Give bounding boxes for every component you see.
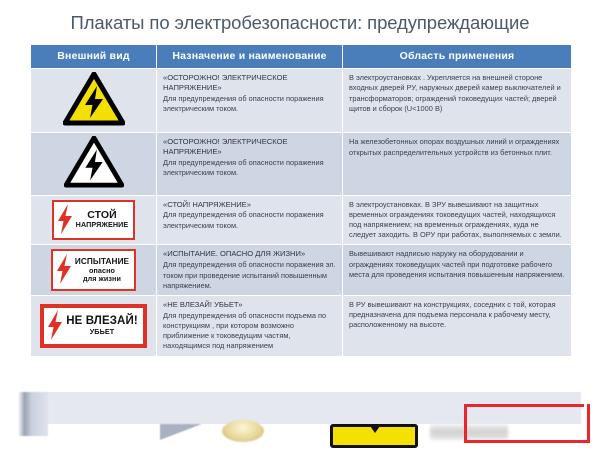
sign-cell: СТОЙ НАПРЯЖЕНИЕ	[31, 196, 156, 245]
table-header-row: Внешний вид Назначение и наименование Об…	[31, 45, 571, 68]
purpose-cell: «СТОЙ! НАПРЯЖЕНИЕ» Для предупреждения об…	[157, 196, 342, 245]
table-row: СТОЙ НАПРЯЖЕНИЕ «СТОЙ! НАПРЯЖЕНИЕ» Для п…	[31, 196, 571, 245]
background-red-outline	[464, 404, 590, 443]
background-triangle-shape	[160, 424, 202, 440]
background-red-outline-top	[464, 404, 584, 407]
table-row: НЕ ВЛЕЗАЙ! УБЬЕТ «НЕ ВЛЕЗАЙ! УБЬЕТ» Для …	[31, 296, 571, 356]
application-cell: Вывешивают надписью наружу на оборудован…	[343, 245, 571, 295]
sign-purpose: Для предупреждения об опасности поражени…	[163, 94, 337, 114]
test-danger-sign: ИСПЫТАНИЕ опасно для жизни	[51, 249, 136, 290]
page-title: Плакаты по электробезопасности: предупре…	[0, 12, 600, 34]
sign-purpose: Для предупреждения об опасности поражени…	[163, 158, 337, 178]
background-grey-shape	[430, 424, 508, 440]
column-header-application: Область применения	[343, 45, 571, 68]
sign-cell: ИСПЫТАНИЕ опасно для жизни	[31, 245, 156, 295]
safety-posters-table: Внешний вид Назначение и наименование Об…	[30, 44, 572, 357]
background-yellow-sign	[330, 424, 418, 448]
warning-triangle-white-icon	[64, 136, 124, 188]
sign-line-3: для жизни	[83, 274, 121, 283]
table-row: ИСПЫТАНИЕ опасно для жизни «ИСПЫТАНИЕ. О…	[31, 245, 571, 295]
warning-triangle-yellow-icon	[63, 72, 125, 126]
sign-cell: НЕ ВЛЕЗАЙ! УБЬЕТ	[31, 296, 156, 356]
sign-line-2: НАПРЯЖЕНИЕ	[76, 220, 129, 229]
sign-purpose: Для предупреждения об опасности подъема …	[163, 311, 337, 352]
sign-name: «СТОЙ! НАПРЯЖЕНИЕ»	[163, 200, 337, 210]
table-row: «ОСТОРОЖНО! ЭЛЕКТРИЧЕСКОЕ НАПРЯЖЕНИЕ» Дл…	[31, 133, 571, 194]
slide-canvas: Плакаты по электробезопасности: предупре…	[0, 0, 600, 450]
red-lightning-bolt-icon	[47, 310, 63, 341]
sign-cell	[31, 69, 156, 132]
purpose-cell: «ИСПЫТАНИЕ. ОПАСНО ДЛЯ ЖИЗНИ» Для предуп…	[157, 245, 342, 295]
sign-name: «НЕ ВЛЕЗАЙ! УБЬЕТ»	[163, 300, 337, 310]
application-cell: В электроустановках. В ЗРУ вывешивают на…	[343, 196, 571, 245]
red-lightning-bolt-icon	[57, 204, 73, 235]
do-not-climb-sign: НЕ ВЛЕЗАЙ! УБЬЕТ	[40, 304, 147, 347]
sign-name: «ОСТОРОЖНО! ЭЛЕКТРИЧЕСКОЕ НАПРЯЖЕНИЕ»	[163, 137, 337, 157]
sign-name: «ИСПЫТАНИЕ. ОПАСНО ДЛЯ ЖИЗНИ»	[163, 249, 337, 259]
sign-purpose: Для предупреждения об опасности поражени…	[163, 260, 337, 291]
purpose-cell: «ОСТОРОЖНО! ЭЛЕКТРИЧЕСКОЕ НАПРЯЖЕНИЕ» Дл…	[157, 69, 342, 132]
sign-name: «ОСТОРОЖНО! ЭЛЕКТРИЧЕСКОЕ НАПРЯЖЕНИЕ»	[163, 73, 337, 93]
application-cell: В электроустановках . Укрепляется на вне…	[343, 69, 571, 132]
table-body: «ОСТОРОЖНО! ЭЛЕКТРИЧЕСКОЕ НАПРЯЖЕНИЕ» Дл…	[31, 69, 571, 356]
column-header-appearance: Внешний вид	[31, 45, 156, 68]
sign-cell	[31, 133, 156, 194]
sign-purpose: Для предупреждения об опасности поражени…	[163, 210, 337, 230]
sign-line-2: УБЬЕТ	[90, 327, 115, 336]
sign-line-1: ИСПЫТАНИЕ	[75, 257, 129, 266]
application-cell: На железобетонных опорах воздушных линий…	[343, 133, 571, 194]
sign-line-1: НЕ ВЛЕЗАЙ!	[66, 315, 138, 327]
stop-voltage-sign: СТОЙ НАПРЯЖЕНИЕ	[52, 200, 136, 239]
purpose-cell: «ОСТОРОЖНО! ЭЛЕКТРИЧЕСКОЕ НАПРЯЖЕНИЕ» Дл…	[157, 133, 342, 194]
purpose-cell: «НЕ ВЛЕЗАЙ! УБЬЕТ» Для предупреждения об…	[157, 296, 342, 356]
background-strip	[45, 392, 581, 424]
background-coin-shape	[222, 420, 264, 442]
column-header-purpose: Назначение и наименование	[157, 45, 342, 68]
background-card-edge	[18, 392, 48, 436]
red-lightning-bolt-icon	[56, 253, 72, 286]
table-row: «ОСТОРОЖНО! ЭЛЕКТРИЧЕСКОЕ НАПРЯЖЕНИЕ» Дл…	[31, 69, 571, 132]
application-cell: В РУ вывешивают на конструкциях, соседни…	[343, 296, 571, 356]
